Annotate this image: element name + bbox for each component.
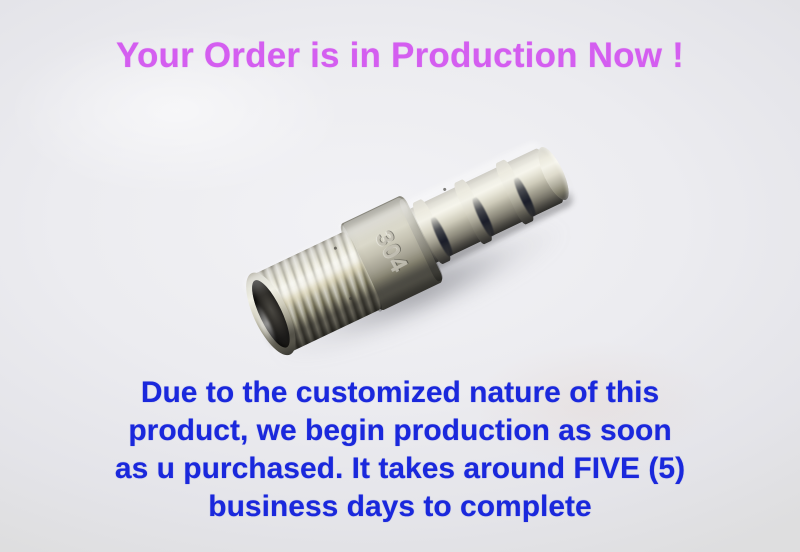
screenshot-canvas: Your Order is in Production Now ! 304 xyxy=(0,0,800,552)
notice-line: business days to complete xyxy=(0,488,800,526)
production-notice-text: Due to the customized nature of this pro… xyxy=(0,374,800,526)
headline-text: Your Order is in Production Now ! xyxy=(0,36,800,76)
product-photo: 304 xyxy=(225,135,595,370)
notice-line: Due to the customized nature of this xyxy=(0,374,800,412)
notice-line: product, we begin production as soon xyxy=(0,412,800,450)
notice-line: as u purchased. It takes around FIVE (5) xyxy=(0,450,800,488)
